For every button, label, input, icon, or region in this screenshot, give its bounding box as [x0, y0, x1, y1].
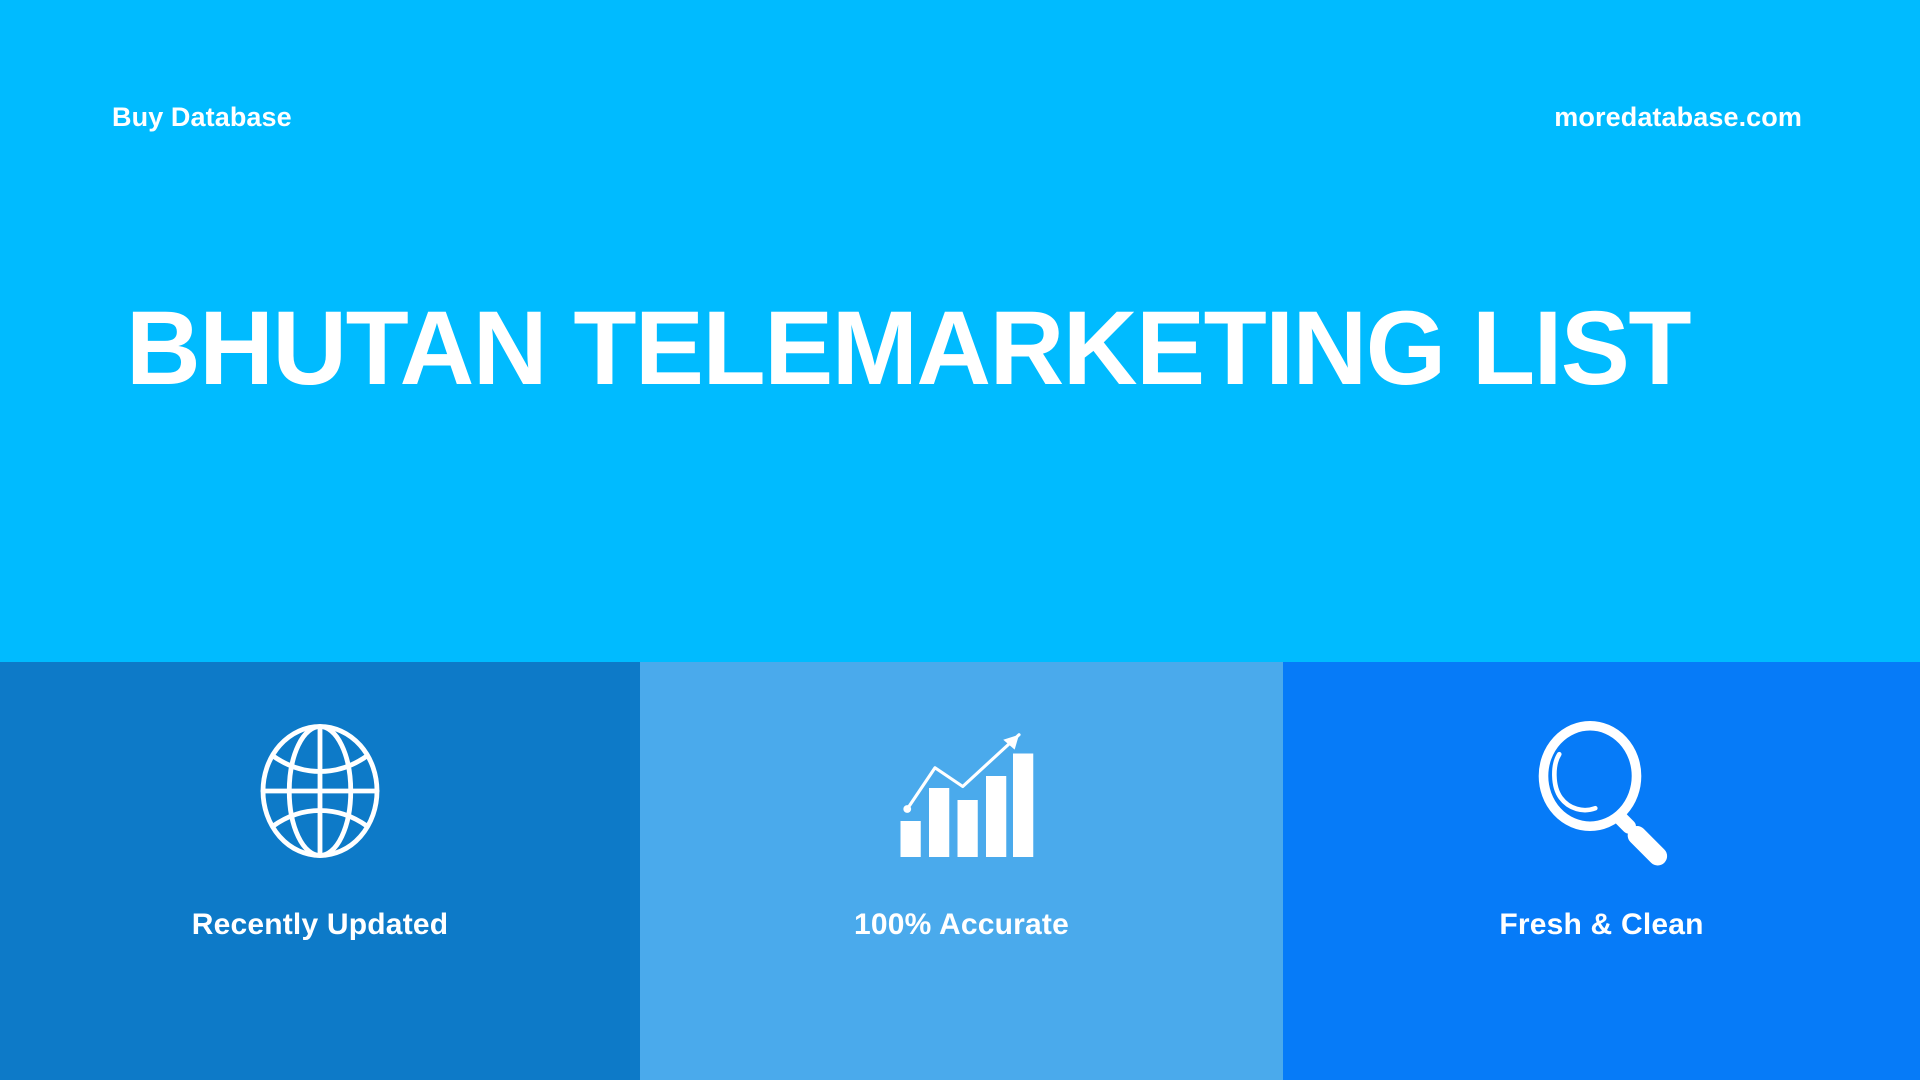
feature-panels: Recently Updated 100% Accu	[0, 662, 1920, 1080]
feature-panel-accurate: 100% Accurate	[640, 662, 1283, 1080]
hero-topbar: Buy Database moredatabase.com	[0, 0, 1920, 200]
bar-chart-growth-icon	[887, 716, 1037, 866]
page-root: Buy Database moredatabase.com BHUTAN TEL…	[0, 0, 1920, 1080]
brand-left-label: Buy Database	[112, 104, 292, 131]
globe-icon	[245, 716, 395, 866]
page-title: BHUTAN TELEMARKETING LIST	[126, 292, 1775, 405]
hero-title-container: BHUTAN TELEMARKETING LIST	[0, 292, 1920, 405]
hero-banner: Buy Database moredatabase.com BHUTAN TEL…	[0, 0, 1920, 662]
magnifying-glass-icon	[1527, 716, 1677, 866]
site-domain-label: moredatabase.com	[1554, 104, 1802, 131]
feature-label-recently-updated: Recently Updated	[192, 910, 449, 940]
feature-label-accurate: 100% Accurate	[854, 910, 1069, 940]
feature-panel-fresh-clean: Fresh & Clean	[1283, 662, 1920, 1080]
feature-panel-recently-updated: Recently Updated	[0, 662, 640, 1080]
feature-label-fresh-clean: Fresh & Clean	[1499, 910, 1703, 940]
